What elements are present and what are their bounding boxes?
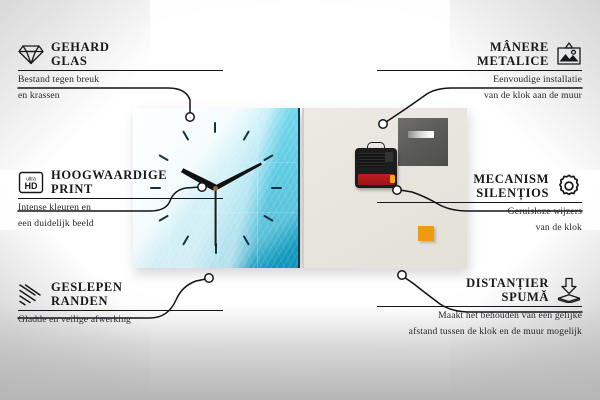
feature-description: Bestand tegen breuk xyxy=(18,71,223,87)
feature-title-line2: SILENȚIOS xyxy=(473,186,549,200)
feature-description-line2: en krassen xyxy=(18,87,223,103)
gear-icon xyxy=(556,173,582,199)
feature-description: Eenvoudige installatie xyxy=(377,71,582,87)
feature-header: DISTANȚIER SPUMĂ xyxy=(377,276,582,306)
feature-geslepen-randen: GESLEPEN RANDEN Gladde en veilige afwerk… xyxy=(18,280,223,327)
feature-title: MÂNERE xyxy=(477,40,549,54)
feature-header: GEHARD GLAS xyxy=(18,40,223,70)
feature-description-line2: afstand tussen de klok en de muur mogeli… xyxy=(377,323,582,339)
ultra-hd-icon-bottom-text: HD xyxy=(25,181,38,191)
feature-title-line2: SPUMĂ xyxy=(466,290,549,304)
feature-title: HOOGWAARDIGE xyxy=(51,168,167,182)
feature-description: Maakt het behouden van een gelijke xyxy=(377,307,582,323)
feature-title-line2: RANDEN xyxy=(51,294,123,308)
mechanism-grill xyxy=(359,153,385,167)
feature-header: ultra HD HOOGWAARDIGE PRINT xyxy=(18,168,223,198)
mechanism-knob xyxy=(385,152,393,162)
feature-header: MÂNERE METALICE xyxy=(377,40,582,70)
feature-title-line2: GLAS xyxy=(51,54,109,68)
feature-header: GESLEPEN RANDEN xyxy=(18,280,223,310)
feature-description: Geruisloze wijzers xyxy=(377,203,582,219)
feature-distantier-spuma: DISTANȚIER SPUMĂ Maakt het behouden van … xyxy=(377,276,582,339)
spacer-arrow-icon xyxy=(556,277,582,303)
feature-title-line2: PRINT xyxy=(51,182,167,196)
feature-mecanism-silentios: MECANISM SILENȚIOS Geruisloze wijzers va… xyxy=(377,172,582,235)
feature-gehard-glas: GEHARD GLAS Bestand tegen breuk en krass… xyxy=(18,40,223,103)
feature-description-line2: van de klok xyxy=(377,219,582,235)
feature-description-line2: van de klok aan de muur xyxy=(377,87,582,103)
ultra-hd-icon: ultra HD xyxy=(18,169,44,195)
feature-title-line2: METALICE xyxy=(477,54,549,68)
picture-frame-icon xyxy=(556,41,582,67)
feature-hoogwaardige-print: ultra HD HOOGWAARDIGE PRINT Intense kleu… xyxy=(18,168,223,231)
feature-header: MECANISM SILENȚIOS xyxy=(377,172,582,202)
feature-description-line2: een duidelijk beeld xyxy=(18,215,223,231)
feature-title: DISTANȚIER xyxy=(466,276,549,290)
diamond-icon xyxy=(18,41,44,67)
feature-title: GESLEPEN xyxy=(51,280,123,294)
bevelled-edges-icon xyxy=(18,281,44,307)
back-panel-edge xyxy=(302,108,304,268)
feature-manere-metalice: MÂNERE METALICE Eenvoudige installatie v… xyxy=(377,40,582,103)
feature-title: MECANISM xyxy=(473,172,549,186)
metal-hanger-plate xyxy=(398,118,448,166)
infographic-canvas: GEHARD GLAS Bestand tegen breuk en krass… xyxy=(0,0,600,400)
clock-tick xyxy=(216,187,282,189)
mechanism-hook xyxy=(367,142,385,150)
feature-description: Gladde en veilige afwerking xyxy=(18,311,223,327)
feature-description: Intense kleuren en xyxy=(18,199,223,215)
feature-title: GEHARD xyxy=(51,40,109,54)
